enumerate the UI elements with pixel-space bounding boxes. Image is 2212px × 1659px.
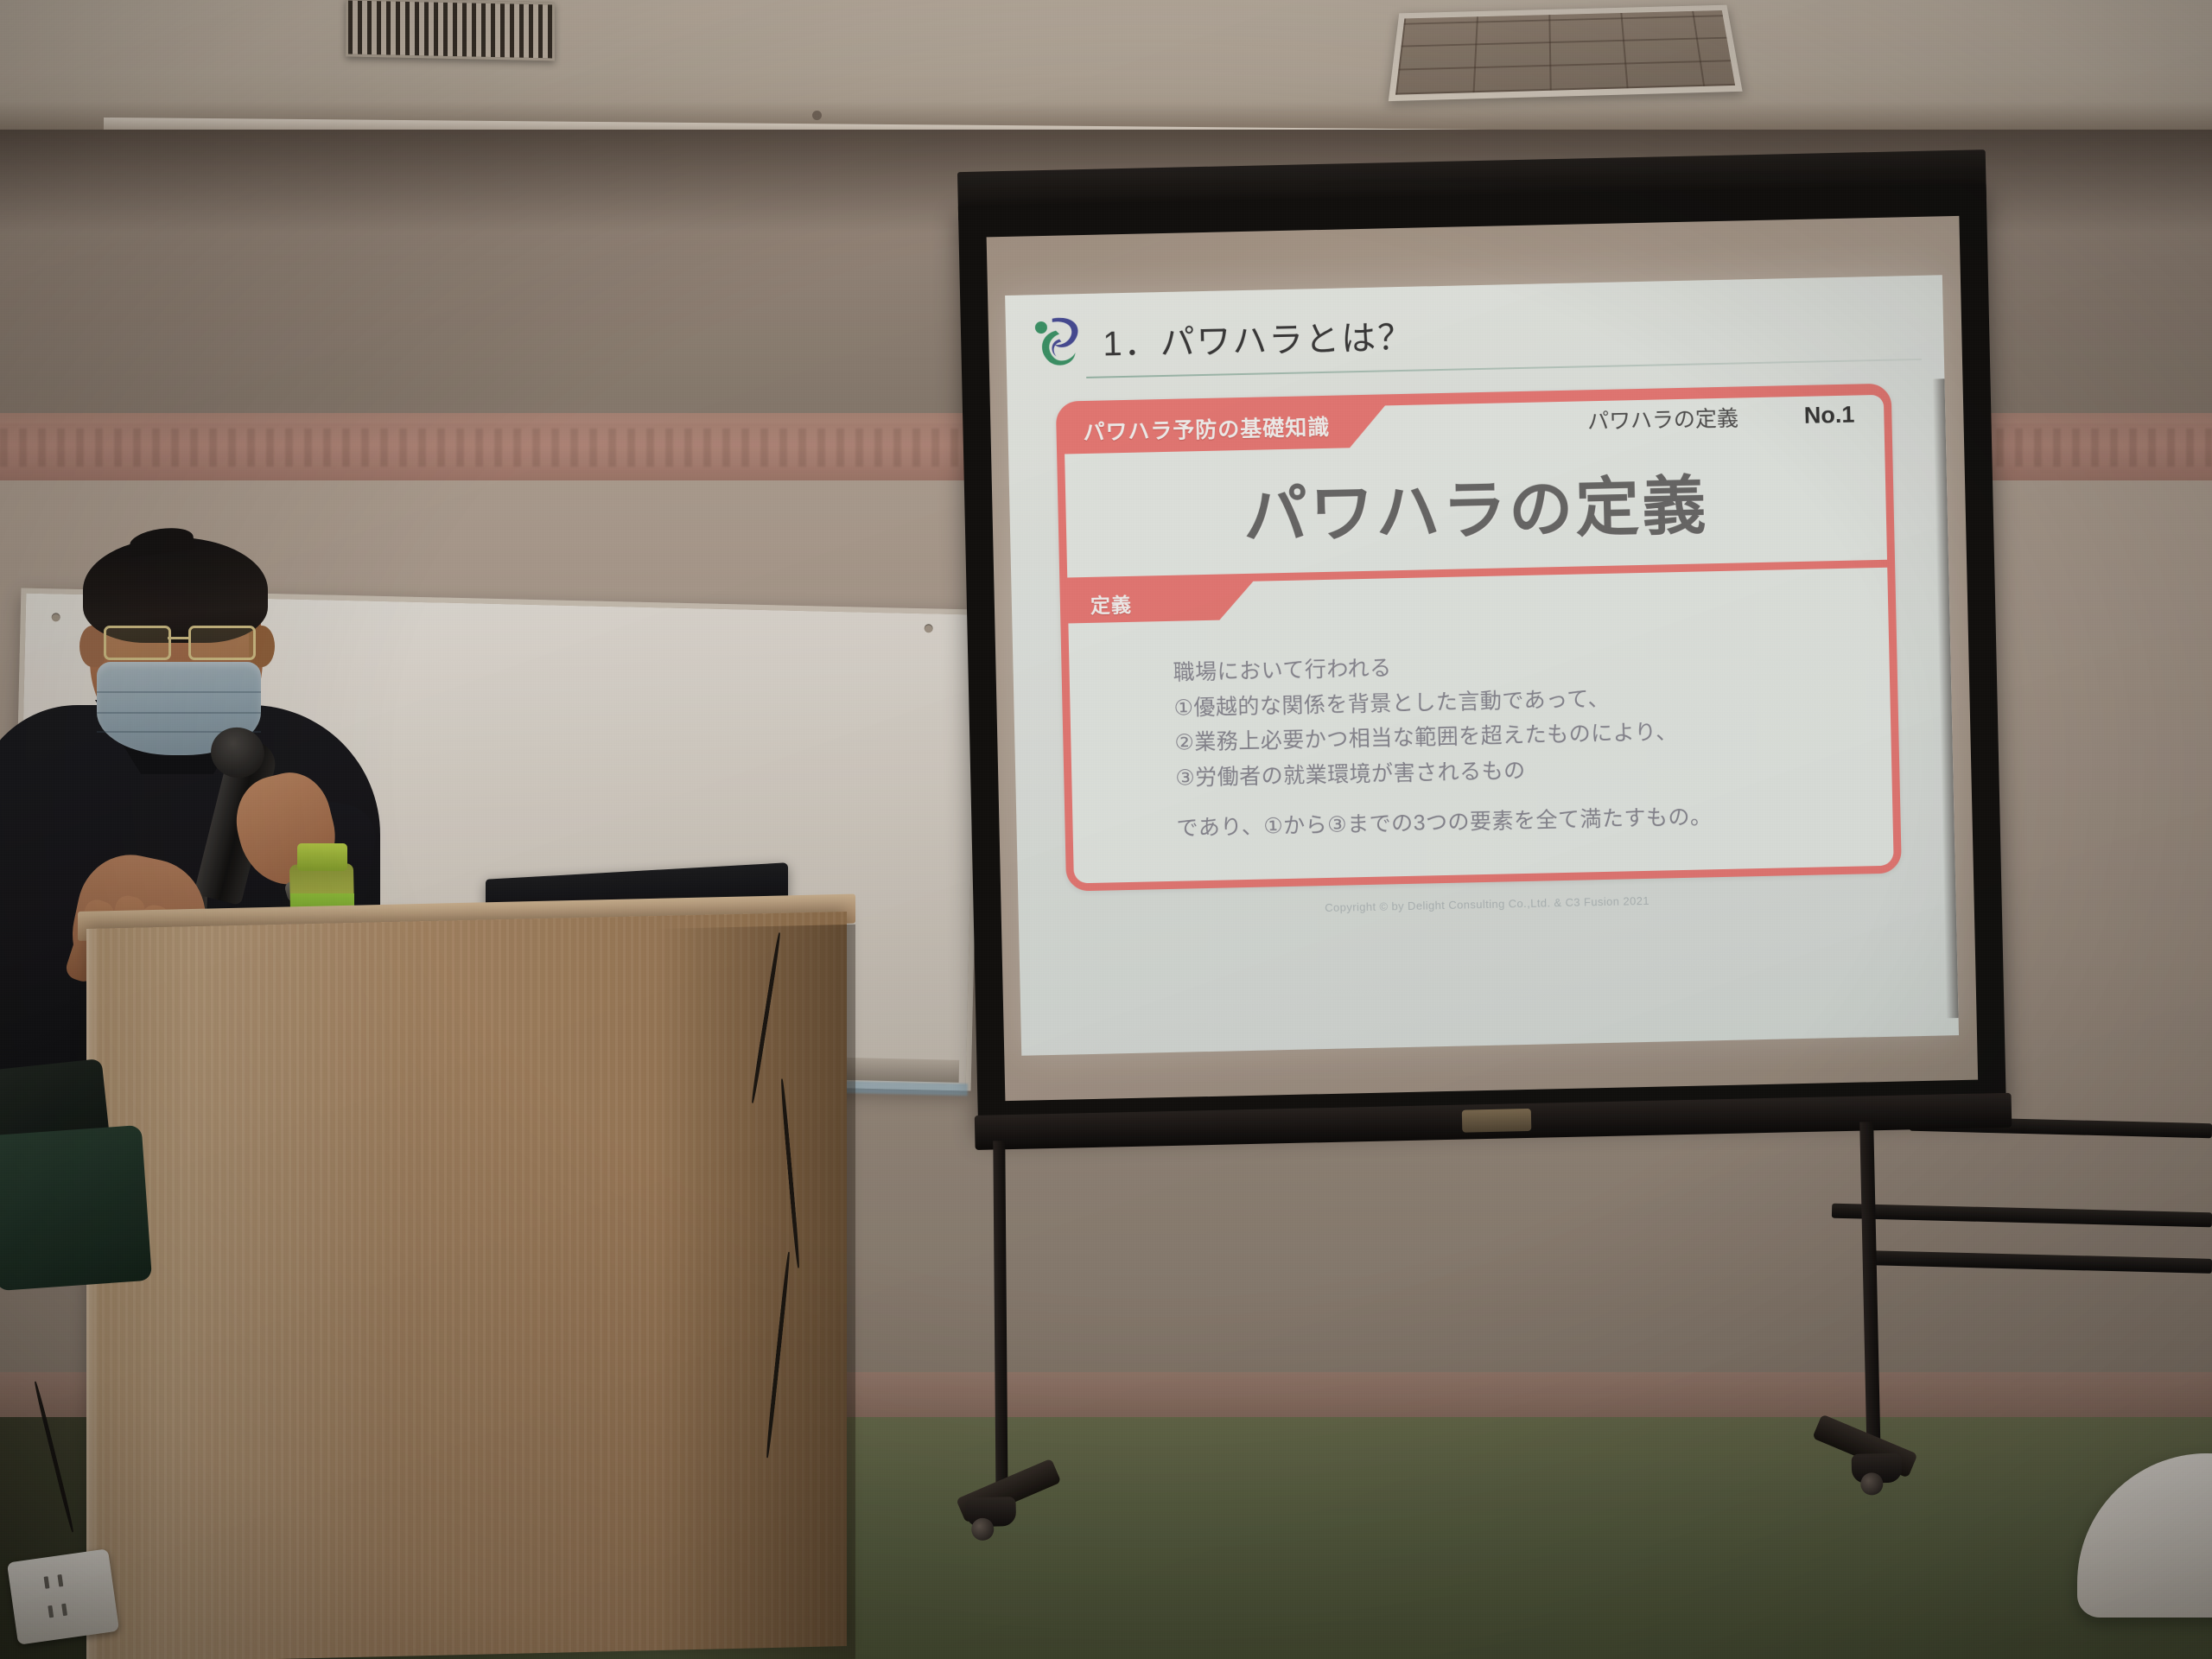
definition-body: 職場において行われる ①優越的な関係を背景とした言動であって、 ②業務上必要かつ… <box>1068 606 1893 883</box>
screen-handle <box>1462 1109 1532 1133</box>
projection-screen: 1．パワハラとは？ パワハラ予防の基礎知識 パワハラの定義 No.1 <box>957 149 2010 1295</box>
ceiling-diffuser-grille-icon <box>1389 5 1743 101</box>
screen-black-border: 1．パワハラとは？ パワハラ予防の基礎知識 パワハラの定義 No.1 <box>958 184 2006 1131</box>
card-category-tag: パワハラ予防の基礎知識 <box>1064 410 1352 447</box>
chair-seat <box>0 1125 152 1291</box>
screen-surface: 1．パワハラとは？ パワハラ予防の基礎知識 パワハラの定義 No.1 <box>987 216 1979 1101</box>
lectern-right-shadow <box>657 925 855 1659</box>
card-subject-label: パワハラの定義 <box>1587 401 1739 435</box>
screen-leg-left <box>993 1141 1007 1495</box>
seminar-room-photo: 1．パワハラとは？ パワハラ予防の基礎知識 パワハラの定義 No.1 <box>0 0 2212 1659</box>
power-strip <box>7 1548 119 1644</box>
definition-tab-label: 定義 <box>1068 588 1133 620</box>
card-big-title: パワハラの定義 <box>1065 450 1886 561</box>
bottle-cap <box>297 843 347 871</box>
slide-title: 1．パワハラとは？ <box>1103 309 1414 366</box>
delight-consulting-logo <box>1033 313 1088 371</box>
projected-slide: 1．パワハラとは？ パワハラ予防の基礎知識 パワハラの定義 No.1 <box>1005 275 1959 1055</box>
slide-content: 1．パワハラとは？ パワハラ予防の基礎知識 パワハラの定義 No.1 <box>1005 275 1959 1055</box>
eyeglasses-icon <box>102 626 256 655</box>
slide-copyright: Copyright © by Delight Consulting Co.,Lt… <box>1041 887 1934 920</box>
ceiling-fixture-dot <box>812 111 822 120</box>
card-title-zone: パワハラの定義 <box>1065 436 1887 586</box>
air-vent-slat-icon <box>346 0 555 61</box>
card-number-label: No.1 <box>1803 401 1854 429</box>
definition-conclusion: であり、①から③までの3つの要素を全て満たすもの。 <box>1176 796 1893 847</box>
definition-card: パワハラ予防の基礎知識 パワハラの定義 No.1 パワハラの定義 定義 <box>1056 384 1902 891</box>
slide-edge-shadow <box>1932 378 1958 1018</box>
slide-header: 1．パワハラとは？ <box>1028 295 1922 372</box>
